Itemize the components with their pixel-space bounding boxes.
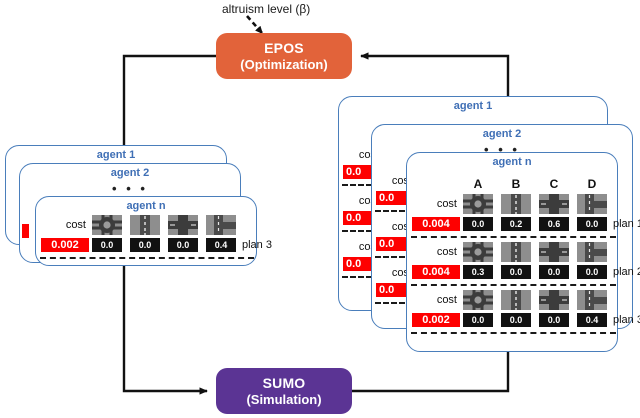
intersection-icon bbox=[539, 194, 569, 214]
plan-3-cost-cell: 0.002 bbox=[412, 313, 460, 327]
left-agent-card-3[interactable]: agent n bbox=[35, 196, 257, 266]
straight-road-icon bbox=[501, 242, 531, 262]
sumo-title: SUMO bbox=[263, 375, 306, 392]
straight-road-icon bbox=[130, 215, 160, 235]
right-c2-cost-3: 0.0 bbox=[376, 283, 409, 297]
plan-2-value-b: 0.0 bbox=[501, 265, 531, 279]
left-value-cell-c: 0.0 bbox=[168, 238, 198, 252]
plan-2-label: plan 2 bbox=[613, 266, 640, 278]
roundabout-icon bbox=[463, 194, 493, 214]
t-junction-icon bbox=[577, 194, 607, 214]
intersection-icon bbox=[539, 290, 569, 310]
right-c2-cost-2: 0.0 bbox=[376, 237, 409, 251]
plan-1-label: plan 1 bbox=[613, 218, 640, 230]
roundabout-icon bbox=[463, 290, 493, 310]
right-agent-card-3[interactable]: agent n A B C D cost 0.004 0 bbox=[406, 152, 618, 352]
left-plan-separator bbox=[40, 257, 254, 259]
plan-2-value-d: 0.0 bbox=[577, 265, 607, 279]
left-agent-card-3-title: agent n bbox=[36, 200, 256, 212]
plan-3-value-c: 0.0 bbox=[539, 313, 569, 327]
right-agent-card-2-title: agent 2 bbox=[372, 128, 632, 140]
plan-2-value-c: 0.0 bbox=[539, 265, 569, 279]
right-c1-sep-2 bbox=[342, 230, 372, 232]
intersection-icon bbox=[539, 242, 569, 262]
intersection-icon bbox=[168, 215, 198, 235]
epos-title: EPOS bbox=[264, 40, 304, 57]
left-plan-label: plan 3 bbox=[242, 239, 272, 251]
sumo-process-box[interactable]: SUMO (Simulation) bbox=[216, 368, 352, 414]
sumo-to-agents-path bbox=[352, 352, 508, 391]
left-agent-card-1-title: agent 1 bbox=[6, 149, 226, 161]
plan-3-value-b: 0.0 bbox=[501, 313, 531, 327]
left-value-cell-d: 0.4 bbox=[206, 238, 236, 252]
plan-1-cost-label: cost bbox=[415, 198, 457, 210]
t-junction-icon bbox=[577, 242, 607, 262]
plan-3-cost-label: cost bbox=[415, 294, 457, 306]
left-agent-card-2-title: agent 2 bbox=[20, 167, 240, 179]
plan-1-cost-cell: 0.004 bbox=[412, 217, 460, 231]
agents-to-epos-path bbox=[361, 56, 508, 96]
left-hidden-cost-1: 0.0 bbox=[22, 224, 29, 238]
plan-2-cost-label: cost bbox=[415, 246, 457, 258]
straight-road-icon bbox=[501, 290, 531, 310]
right-c2-sep-3 bbox=[375, 302, 405, 304]
plan-1-value-b: 0.2 bbox=[501, 217, 531, 231]
plan-1-value-d: 0.0 bbox=[577, 217, 607, 231]
left-value-cell-b: 0.0 bbox=[130, 238, 160, 252]
roundabout-icon bbox=[92, 215, 122, 235]
t-junction-icon bbox=[206, 215, 236, 235]
column-header-b: B bbox=[501, 177, 531, 191]
epos-subtitle: (Optimization) bbox=[240, 57, 327, 72]
right-agent-card-3-title: agent n bbox=[407, 156, 617, 168]
t-junction-icon bbox=[577, 290, 607, 310]
right-c2-sep-2 bbox=[375, 256, 405, 258]
plan-1-value-c: 0.6 bbox=[539, 217, 569, 231]
left-cost-label: cost bbox=[44, 219, 86, 231]
plan-3-value-d: 0.4 bbox=[577, 313, 607, 327]
plan-2-value-a: 0.3 bbox=[463, 265, 493, 279]
plan-3-value-a: 0.0 bbox=[463, 313, 493, 327]
column-header-a: A bbox=[463, 177, 493, 191]
plan-1-value-a: 0.0 bbox=[463, 217, 493, 231]
right-agent-card-1-title: agent 1 bbox=[339, 100, 607, 112]
plan-3-label: plan 3 bbox=[613, 314, 640, 326]
left-value-cell-a: 0.0 bbox=[92, 238, 122, 252]
plan-3-separator bbox=[411, 332, 616, 334]
roundabout-icon bbox=[463, 242, 493, 262]
right-c2-cost-1: 0.0 bbox=[376, 191, 409, 205]
straight-road-icon bbox=[501, 194, 531, 214]
right-c1-sep-3 bbox=[342, 276, 372, 278]
right-c2-sep-1 bbox=[375, 210, 405, 212]
epos-process-box[interactable]: EPOS (Optimization) bbox=[216, 33, 352, 79]
sumo-subtitle: (Simulation) bbox=[246, 392, 321, 407]
plan-2-separator bbox=[411, 284, 616, 286]
column-header-d: D bbox=[577, 177, 607, 191]
right-c1-sep-1 bbox=[342, 184, 372, 186]
left-cost-cell: 0.002 bbox=[41, 238, 89, 252]
column-header-c: C bbox=[539, 177, 569, 191]
diagram-canvas: altruism level (β) EPOS (Optimization) S… bbox=[0, 0, 640, 418]
plan-2-cost-cell: 0.004 bbox=[412, 265, 460, 279]
plan-1-separator bbox=[411, 236, 616, 238]
left-stack-ellipsis: • • • bbox=[20, 181, 240, 196]
